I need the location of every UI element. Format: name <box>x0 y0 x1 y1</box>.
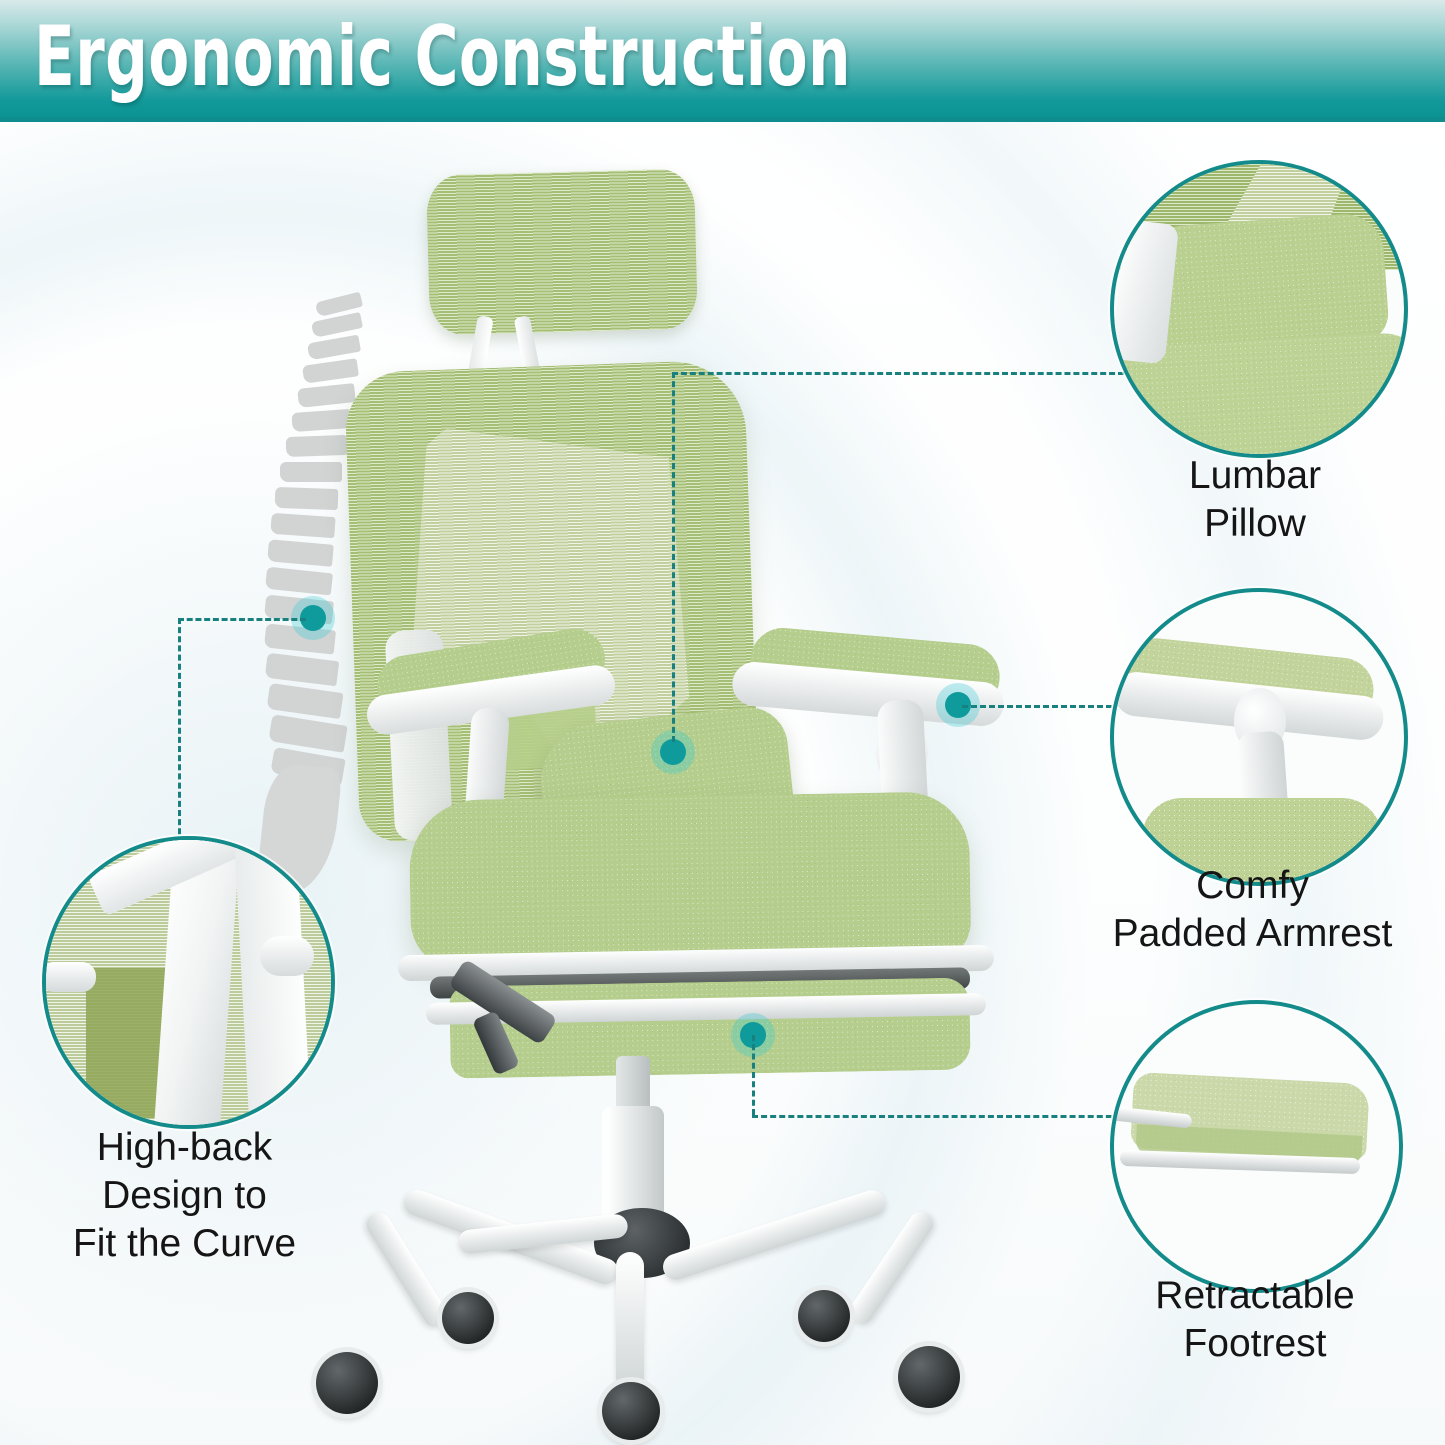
base-leg <box>660 1187 889 1283</box>
caster-wheel <box>898 1346 960 1408</box>
connector-lumbar-vertical <box>672 372 675 742</box>
seat-cushion <box>409 791 972 971</box>
connector-highback-horizontal <box>178 618 306 621</box>
connector-footrest-horizontal <box>752 1115 1130 1118</box>
connector-lumbar-horizontal <box>672 372 1124 375</box>
caster-wheel <box>798 1290 850 1342</box>
callout-bubble-retractable-footrest[interactable] <box>1110 1000 1403 1293</box>
highback-bubble-stub <box>42 962 96 992</box>
callout-bubble-padded-armrest[interactable] <box>1110 588 1408 886</box>
banner-underline <box>0 117 1445 122</box>
caster-wheel <box>602 1382 660 1440</box>
highback-bubble-knob <box>260 936 314 976</box>
connector-armrest-horizontal <box>962 705 1130 708</box>
headrest <box>426 169 698 336</box>
main-product-image <box>280 160 1000 1420</box>
callout-label-padded-armrest: Comfy Padded Armrest <box>1060 862 1445 958</box>
header-banner: Ergonomic Construction <box>0 0 1445 117</box>
caster-wheel <box>442 1292 494 1344</box>
caster-wheel <box>316 1352 378 1414</box>
callout-label-lumbar-pillow: Lumbar Pillow <box>1090 452 1420 548</box>
base-leg <box>845 1207 938 1328</box>
callout-dot-lumbar-pillow <box>660 739 686 765</box>
callout-bubble-high-back[interactable] <box>42 836 335 1129</box>
base-leg <box>362 1209 451 1332</box>
page-title: Ergonomic Construction <box>34 9 851 105</box>
connector-footrest-vertical <box>752 1035 755 1115</box>
base-leg <box>616 1252 644 1392</box>
callout-label-retractable-footrest: Retractable Footrest <box>1090 1272 1420 1368</box>
callout-bubble-lumbar-pillow[interactable] <box>1110 160 1408 458</box>
callout-label-high-back: High-back Design to Fit the Curve <box>22 1124 347 1268</box>
infographic-page: Ergonomic Construction <box>0 0 1445 1445</box>
